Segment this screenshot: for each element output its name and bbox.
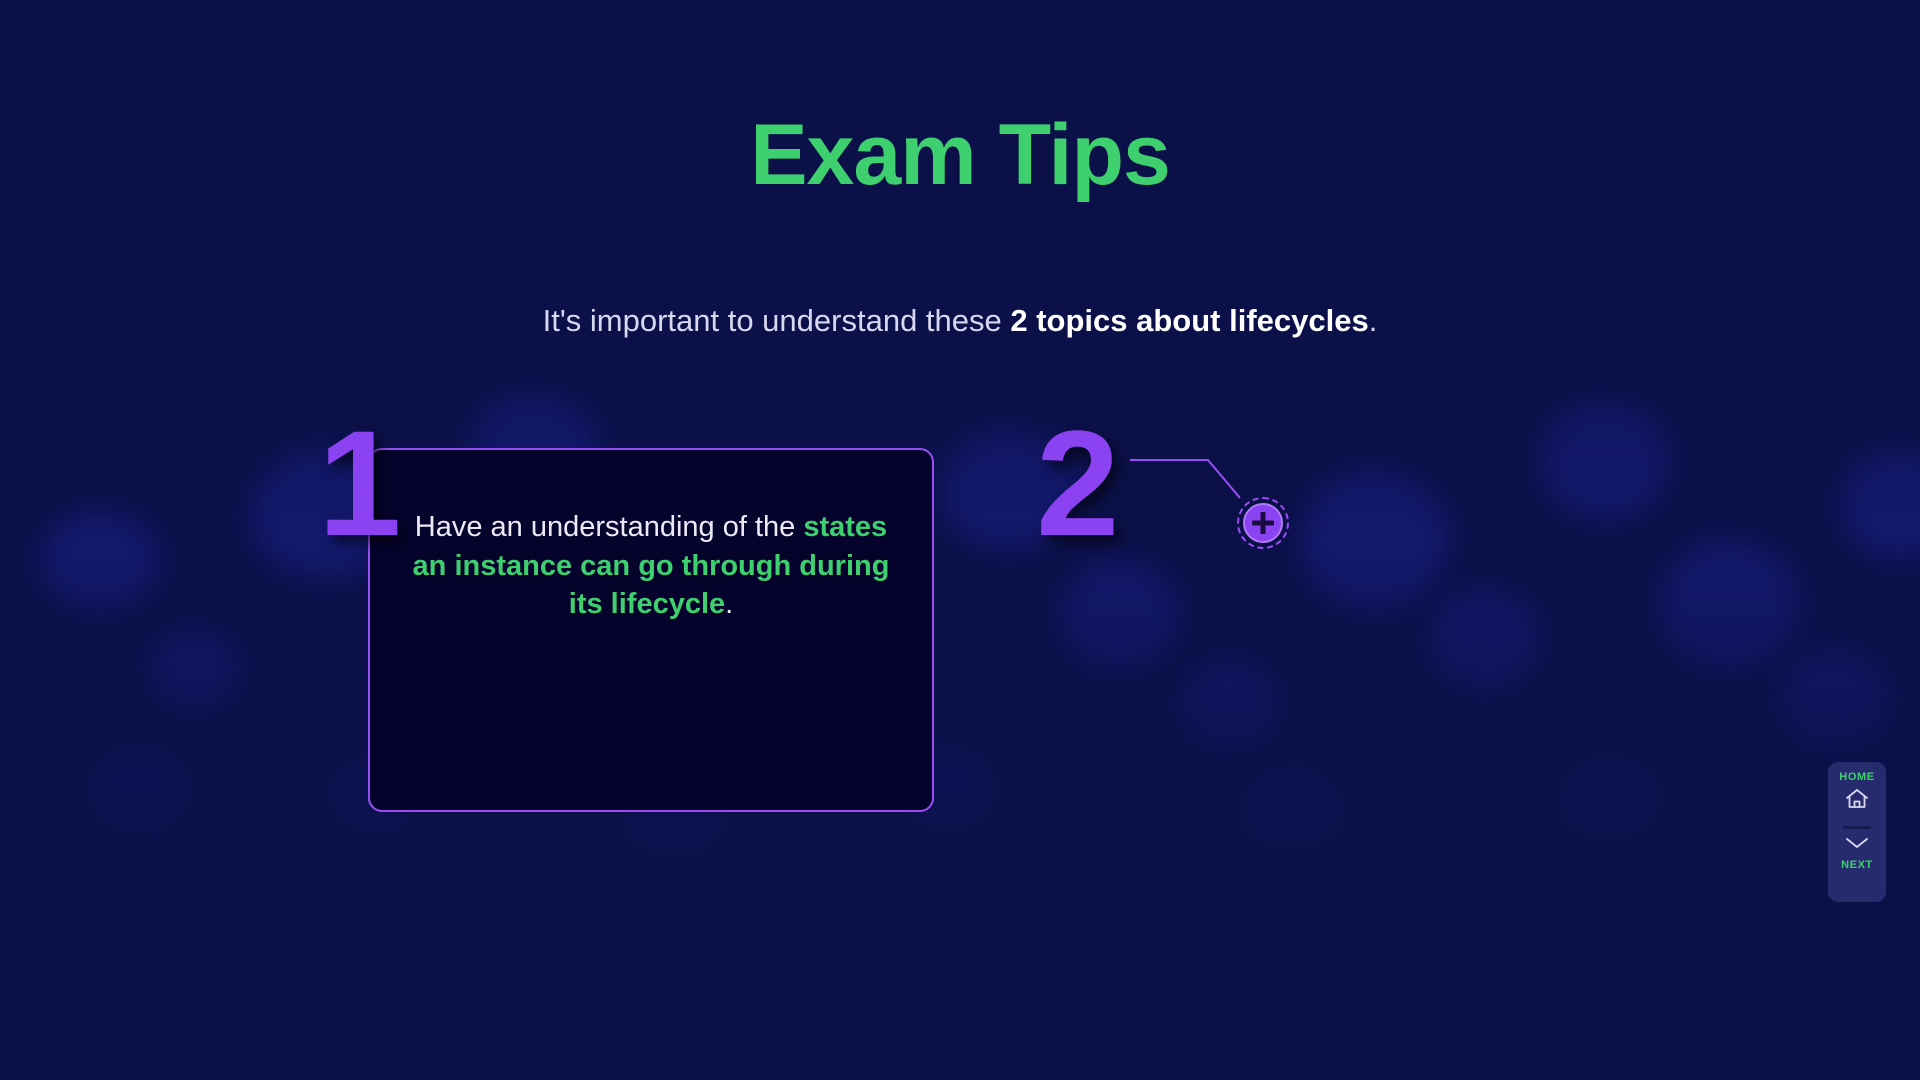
page-subtitle: It's important to understand these 2 top…: [0, 302, 1920, 339]
subtitle-emphasis: 2 topics about lifecycles: [1010, 303, 1368, 338]
background-texture: [0, 330, 1920, 890]
background-fade: [0, 330, 1920, 890]
subtitle-tail: .: [1369, 303, 1378, 338]
tip-card-1-text: Have an understanding of the states an i…: [410, 508, 892, 624]
page-title: Exam Tips: [0, 112, 1920, 198]
chevron-down-icon: [1843, 835, 1871, 856]
nav-next-button[interactable]: NEXT: [1841, 835, 1873, 871]
slide-canvas: Exam Tips It's important to understand t…: [0, 0, 1920, 1080]
subtitle-lead: It's important to understand these: [543, 303, 1011, 338]
tip-card-1[interactable]: Have an understanding of the states an i…: [368, 448, 934, 812]
nav-next-label: NEXT: [1841, 859, 1873, 871]
card-1-lead: Have an understanding of the: [415, 511, 804, 543]
plus-icon: [1243, 503, 1283, 543]
slide-navigation-panel[interactable]: HOME NEXT: [1828, 762, 1886, 902]
nav-home-label: HOME: [1839, 771, 1874, 783]
item-number-2: 2: [1036, 408, 1119, 558]
home-icon: [1844, 787, 1870, 816]
card-1-tail: .: [725, 588, 733, 620]
nav-divider: [1843, 826, 1871, 829]
nav-home-button[interactable]: HOME: [1839, 771, 1874, 816]
item-number-1: 1: [318, 408, 401, 558]
expand-item-2-button[interactable]: [1237, 497, 1289, 549]
